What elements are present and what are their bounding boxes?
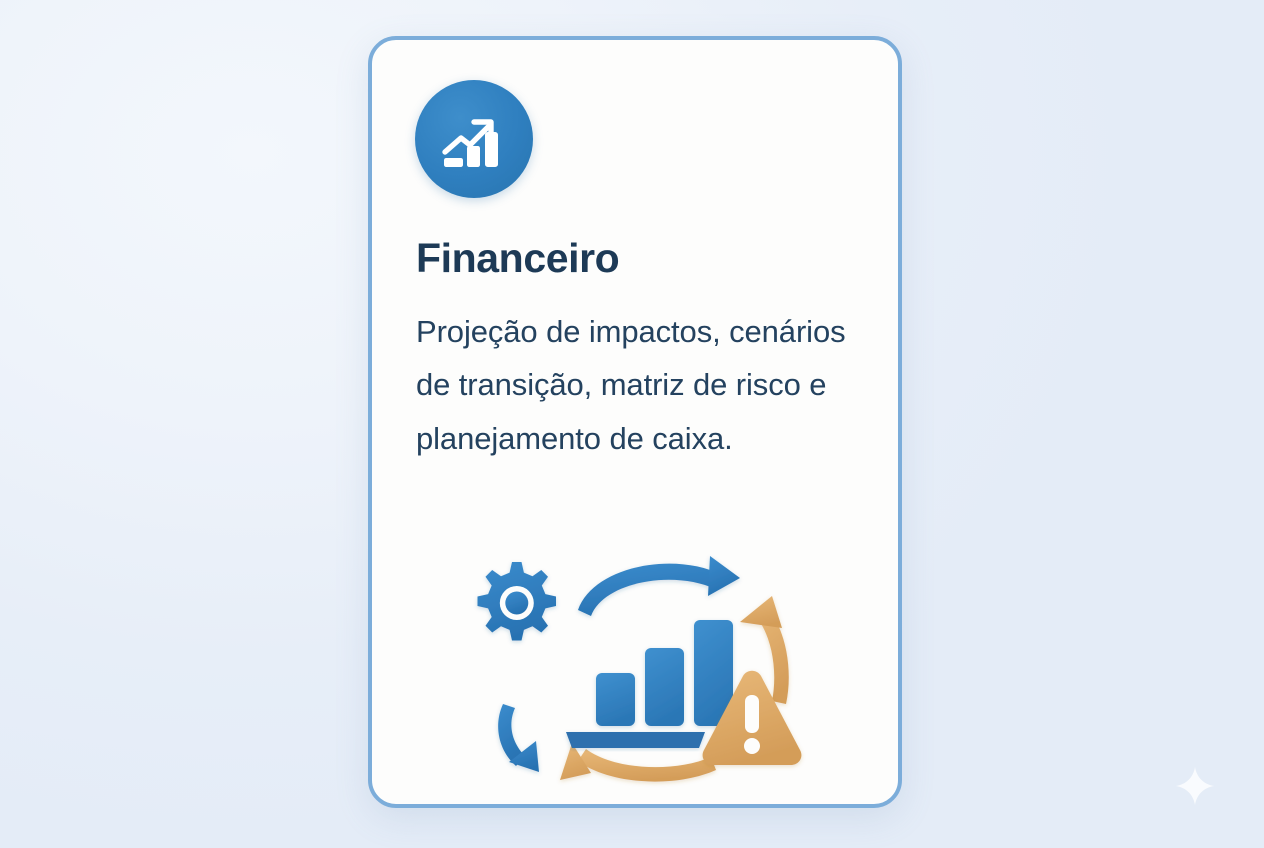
arrow-curve-left-down-icon xyxy=(498,704,539,772)
card-description: Projeção de impactos, cenários de transi… xyxy=(416,305,846,465)
arrow-curve-top-right-icon xyxy=(578,556,740,616)
arrow-curve-bottom-left-icon xyxy=(560,743,716,782)
gear-icon xyxy=(478,562,557,641)
sparkle-icon xyxy=(1174,765,1216,807)
financial-card[interactable]: Financeiro Projeção de impactos, cenário… xyxy=(368,36,902,808)
financial-scenario-illustration xyxy=(460,548,820,806)
page-background: Financeiro Projeção de impactos, cenário… xyxy=(0,0,1264,848)
page-title: Financeiro xyxy=(416,238,858,279)
bar-chart-icon xyxy=(596,620,733,726)
chart-trending-up-icon xyxy=(415,80,533,198)
chart-base-platform xyxy=(566,732,705,748)
